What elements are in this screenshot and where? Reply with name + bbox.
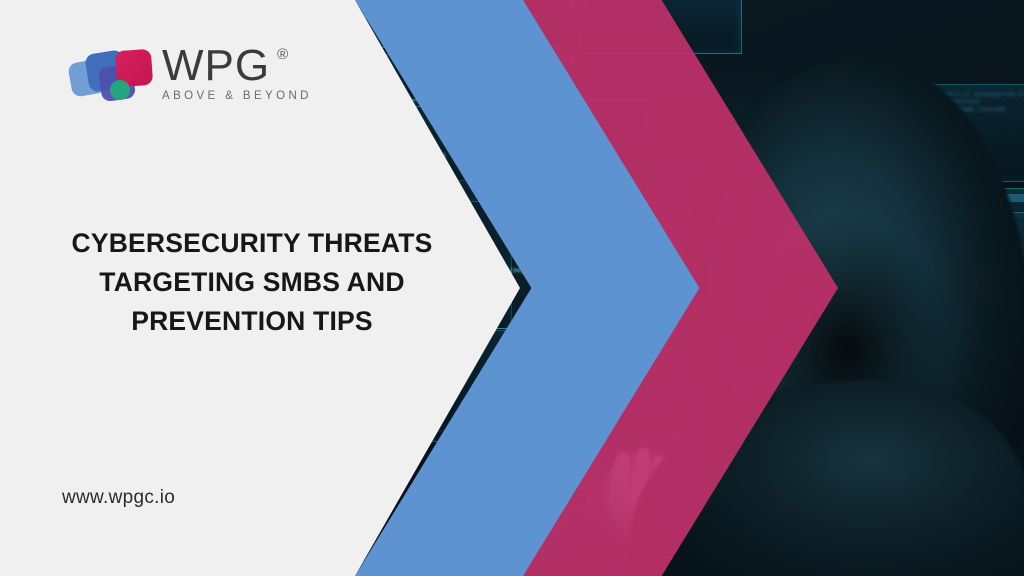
wpg-logo-mark-icon	[70, 42, 148, 104]
page-title-line-2: TARGETING SMBS AND	[56, 263, 448, 302]
wpg-logo-text: WPG ® ABOVE & BEYOND	[162, 44, 312, 102]
page-title-line-1: CYBERSECURITY THREATS	[56, 224, 448, 263]
wpg-wordmark: WPG	[162, 44, 270, 87]
registered-trademark-icon: ®	[277, 46, 288, 63]
banner-canvas: def menu(): system("clear") try: ufo = r…	[0, 0, 1024, 576]
page-title-line-3: PREVENTION TIPS	[56, 302, 448, 341]
logo-circle-green	[110, 80, 130, 100]
wpg-logo[interactable]: WPG ® ABOVE & BEYOND	[70, 42, 312, 104]
wpg-wordmark-row: WPG ®	[162, 44, 312, 87]
page-title: CYBERSECURITY THREATS TARGETING SMBS AND…	[56, 224, 448, 342]
wpg-tagline: ABOVE & BEYOND	[162, 90, 312, 102]
website-url[interactable]: www.wpgc.io	[62, 487, 175, 509]
